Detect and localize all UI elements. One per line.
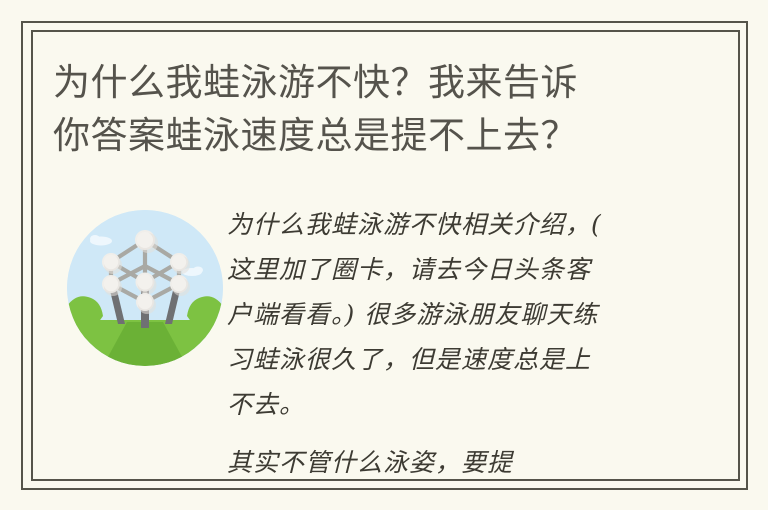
card-content: 为什么我蛙泳游不快？我来告诉你答案蛙泳速度总是提不上去？ [31,30,740,481]
article-thumbnail [67,210,223,366]
atomium-icon [67,210,223,366]
title-line-1: 为什么我蛙泳游不快？我来告诉 [53,61,578,104]
body-line-2: 这里加了圈卡，请去今日头条客 [227,255,591,284]
body-line-3: 户端看看。) 很多游泳朋友聊天练 [227,300,598,329]
article-body-paragraph: 为什么我蛙泳游不快相关介绍，(这里加了圈卡，请去今日头条客户端看看。) 很多游泳… [227,202,727,427]
title-line-2: 你答案蛙泳速度总是提不上去？ [53,114,578,157]
article-body-area: 为什么我蛙泳游不快相关介绍，(这里加了圈卡，请去今日头条客户端看看。) 很多游泳… [31,202,740,481]
article-card: 为什么我蛙泳游不快？我来告诉你答案蛙泳速度总是提不上去？ [0,0,768,510]
body-line-5: 不去。 [227,390,305,419]
page-title: 为什么我蛙泳游不快？我来告诉你答案蛙泳速度总是提不上去？ [53,56,718,162]
body-line-1: 为什么我蛙泳游不快相关介绍，( [227,210,602,239]
body-line-4: 习蛙泳很久了，但是速度总是上 [227,345,591,374]
article-body-tail: 其实不管什么泳姿，要提 [227,445,727,481]
